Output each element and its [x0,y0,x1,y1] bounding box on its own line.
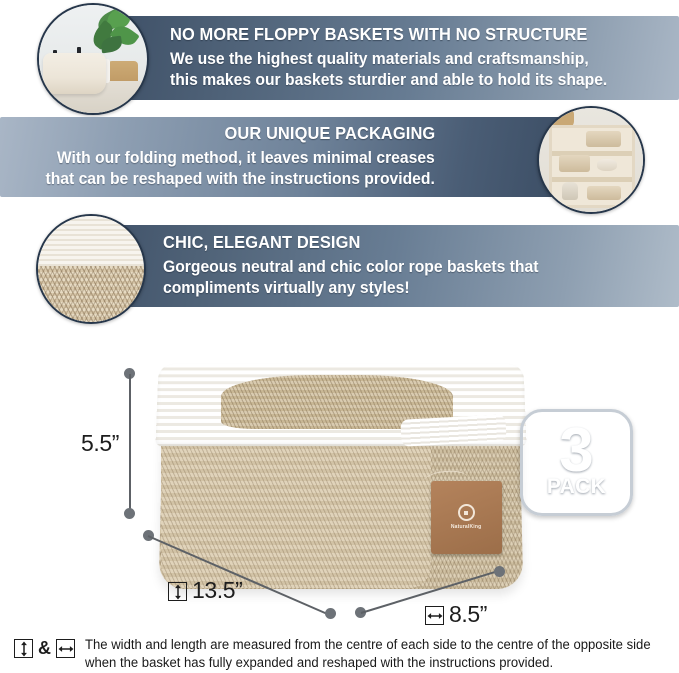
pack-count-label: PACK [547,476,606,497]
basket-front-panel [161,441,431,588]
shelf-baskets-photo [537,106,645,214]
height-dim-line [129,374,131,514]
height-dim-label: 5.5” [81,430,119,457]
height-value: 5.5” [81,430,119,456]
product-basket-photo: NaturalKing [153,358,528,603]
length-dim-dot-right [325,608,336,619]
banner-heading: CHIC, ELEGANT DESIGN [163,233,360,251]
rope-texture-photo [36,214,146,324]
horizontal-arrow-icon [425,606,444,625]
bathroom-basket-photo [37,3,149,115]
banner-body-line-1: Gorgeous neutral and chic color rope bas… [163,257,538,278]
banner-heading: NO MORE FLOPPY BASKETS WITH NO STRUCTURE [170,25,587,43]
brand-logo-icon [458,504,475,521]
feature-banner-our-unique-packaging: OUR UNIQUE PACKAGING With our folding me… [0,117,561,197]
width-value: 8.5” [449,601,487,627]
vertical-arrow-icon [14,639,33,658]
banner-body-line-2: this makes our baskets sturdier and able… [170,70,607,91]
pack-count-badge: 3 PACK [520,409,633,516]
feature-banner-chic-elegant-design: CHIC, ELEGANT DESIGN Gorgeous neutral an… [105,225,679,307]
feature-banner-no-more-floppy-baskets: NO MORE FLOPPY BASKETS WITH NO STRUCTURE… [118,16,679,100]
banner-heading: OUR UNIQUE PACKAGING [224,124,435,142]
width-dim-dot-right [494,566,505,577]
footnote-text: The width and length are measured from t… [85,636,651,671]
vertical-arrow-icon [168,582,187,601]
brand-name: NaturalKing [451,524,482,530]
length-dim-label: 13.5” [168,577,242,604]
banner-body-line-1: We use the highest quality materials and… [170,49,589,70]
banner-body-line-2: that can be reshaped with the instructio… [46,169,435,190]
footnote-icon-group: & [14,636,75,659]
footnote-ampersand: & [38,638,51,659]
photo-rope-weave [38,216,144,322]
photo-bathroom-scene [39,5,147,113]
pack-count-number: 3 [559,424,593,479]
height-dim-dot-bottom [124,508,135,519]
banner-body-line-2: compliments virtually any styles! [163,278,410,299]
banner-body-line-1: With our folding method, it leaves minim… [57,148,435,169]
measurement-footnote: & The width and length are measured from… [14,636,669,671]
basket-handle [400,414,506,446]
horizontal-arrow-icon [56,639,75,658]
footnote-line-2: when the basket has fully expanded and r… [85,654,651,672]
width-dim-label: 8.5” [425,601,487,628]
banner-text-block: CHIC, ELEGANT DESIGN Gorgeous neutral an… [105,225,679,307]
photo-shelf-scene [539,108,643,212]
banner-text-block: OUR UNIQUE PACKAGING With our folding me… [0,117,561,197]
length-value: 13.5” [192,577,242,603]
footnote-line-1: The width and length are measured from t… [85,636,651,654]
banner-text-block: NO MORE FLOPPY BASKETS WITH NO STRUCTURE… [118,16,679,100]
brand-hang-tag: NaturalKing [431,481,502,555]
infographic-canvas: NO MORE FLOPPY BASKETS WITH NO STRUCTURE… [0,0,679,673]
